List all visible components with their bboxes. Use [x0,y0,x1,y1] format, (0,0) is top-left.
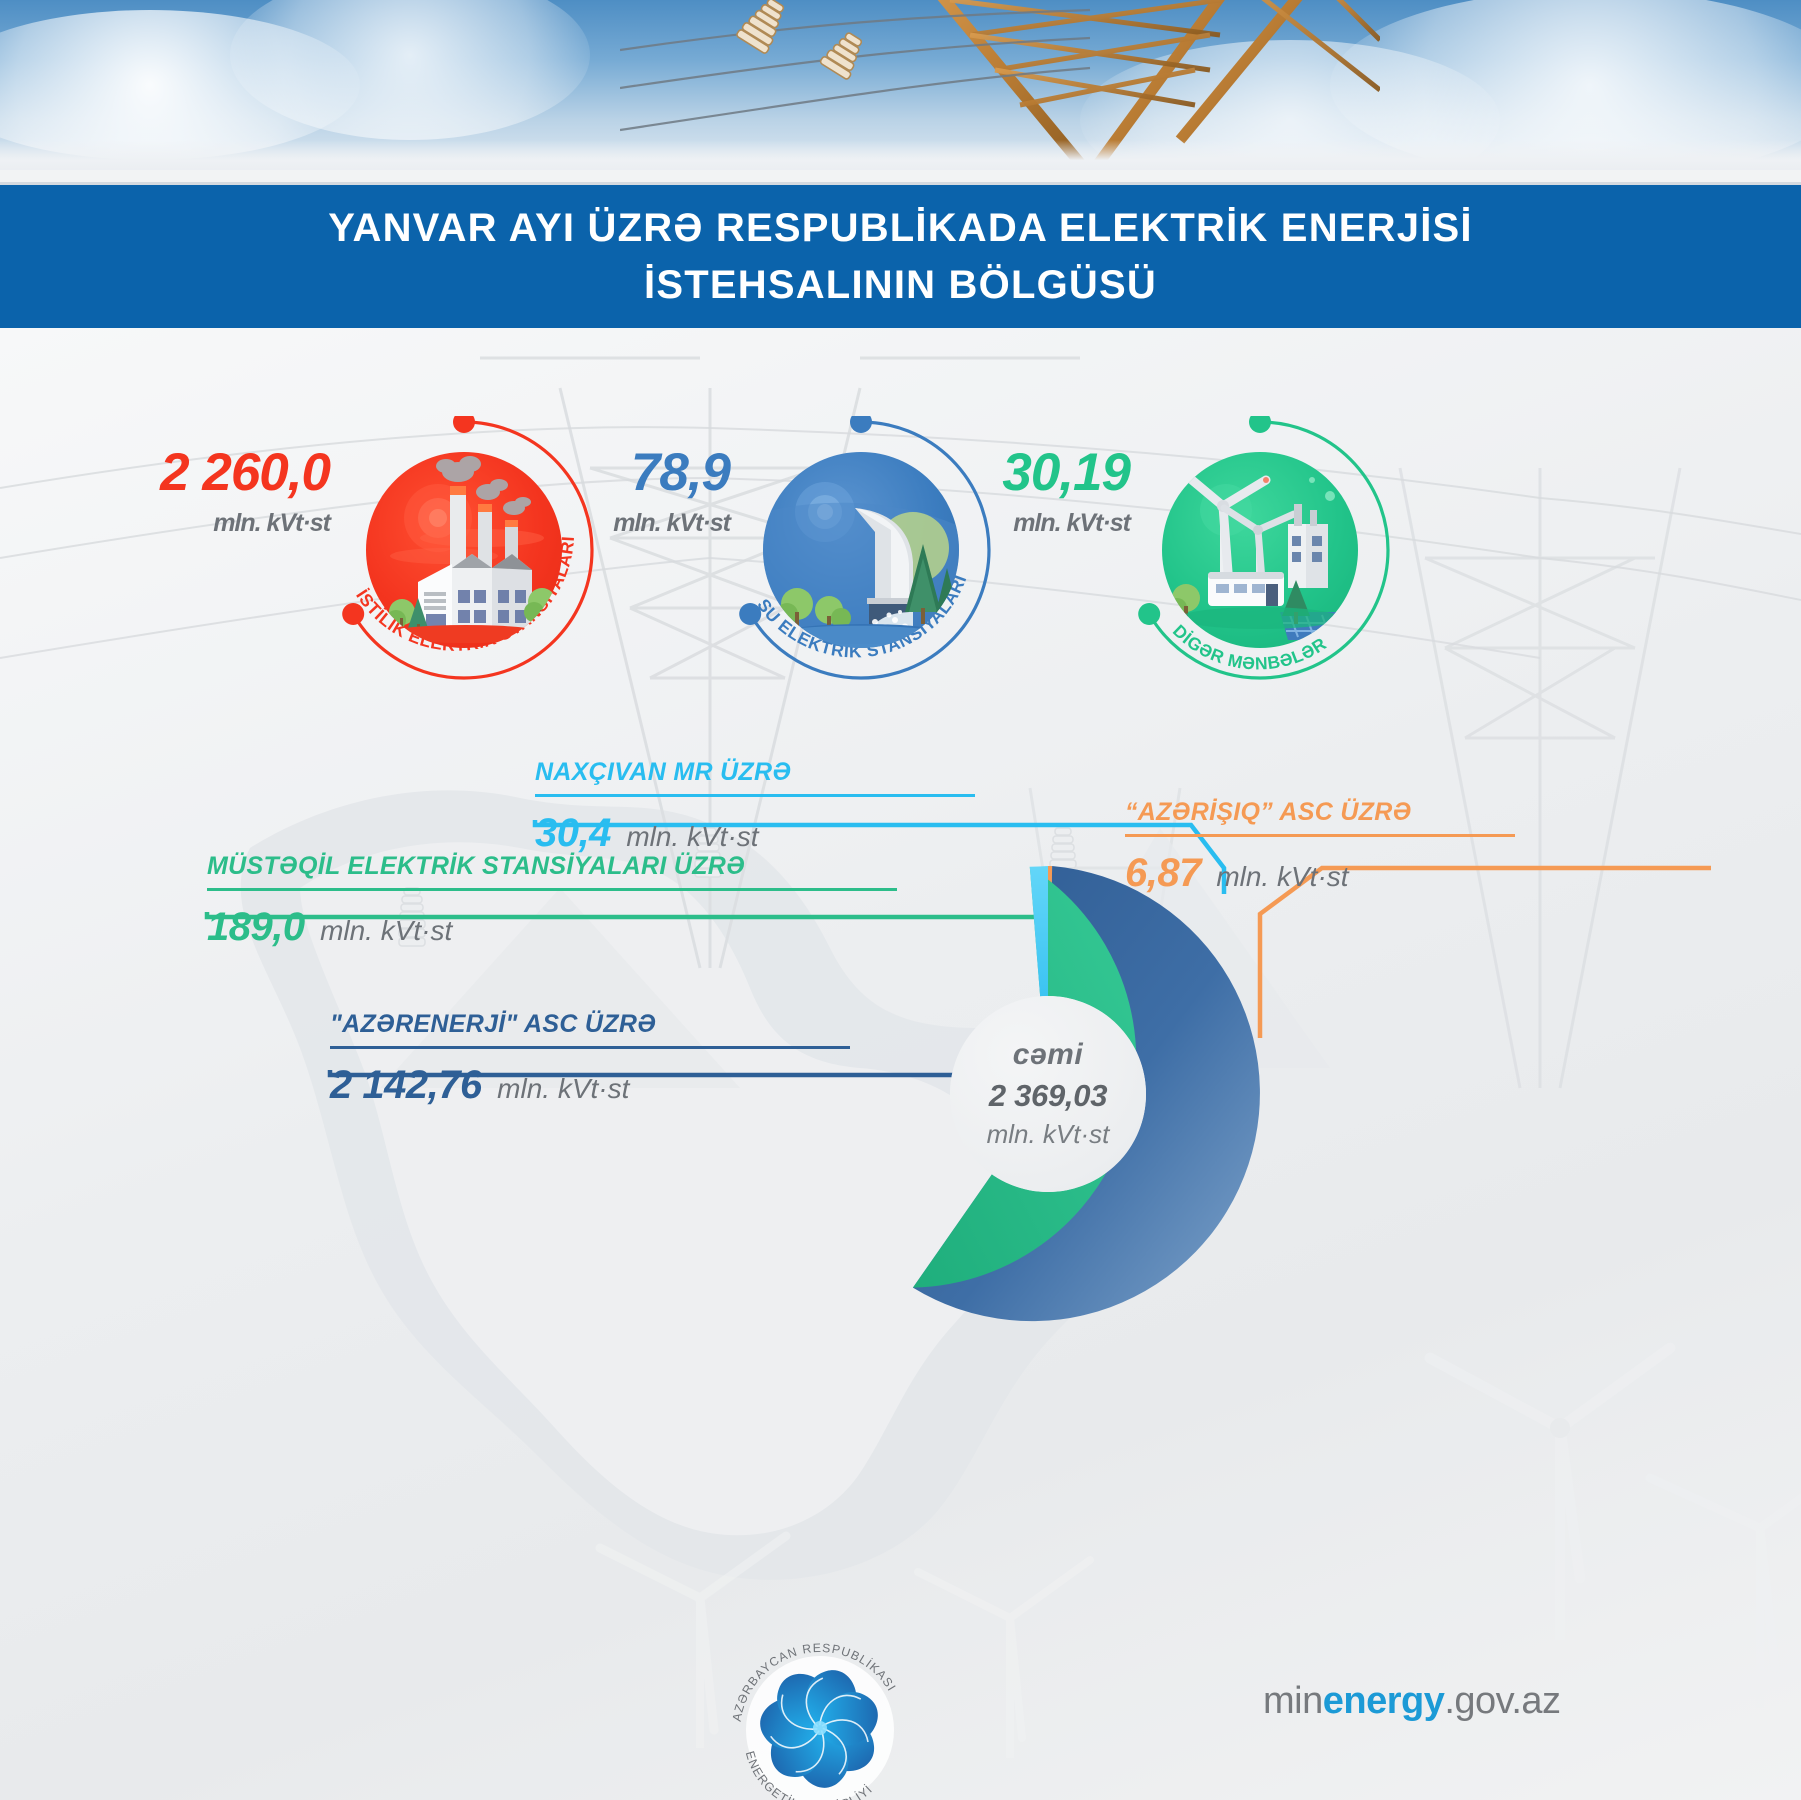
header-photo-banner [0,0,1801,170]
callout-azerenerji: "AZƏRENERJİ" ASC ÜZRƏ 2 142,76 mln. kVt·… [330,1010,850,1108]
ministry-logo-ring-text: AZƏRBAYCAN RESPUBLİKASI ENERGETİKA NAZİR… [700,1638,940,1800]
website-url-prefix: min [1263,1680,1323,1722]
donut-center-label: cəmi 2 369,03 mln. kVt·st [950,996,1146,1192]
website-url-suffix: .gov.az [1444,1680,1560,1722]
ministry-logo: AZƏRBAYCAN RESPUBLİKASI ENERGETİKA NAZİR… [700,1638,940,1800]
donut-total-value: 2 369,03 [989,1078,1107,1114]
callout-naxcivan-value-row: 30,4 mln. kVt·st [535,811,975,856]
callout-naxcivan-label: NAXÇIVAN MR ÜZRƏ [535,758,975,787]
callout-naxcivan-rule [535,794,975,797]
callout-azerenerji-rule [330,1046,850,1049]
website-url-brand: energy [1323,1680,1445,1722]
svg-text:AZƏRBAYCAN RESPUBLİKASI: AZƏRBAYCAN RESPUBLİKASI [730,1641,899,1723]
svg-text:ENERGETİKA NAZİRLİYİ: ENERGETİKA NAZİRLİYİ [743,1749,876,1800]
callout-azerenerji-label: "AZƏRENERJİ" ASC ÜZRƏ [330,1010,850,1039]
page-title: YANVAR AYI ÜZRƏ RESPUBLİKADA ELEKTRİK EN… [168,200,1632,314]
main-content: 2 260,0 mln. kVt·st İSTİLİK ELEKTRİK STA… [0,328,1801,1800]
callout-naxcivan-unit: mln. kVt·st [626,821,758,852]
callout-azerenerji-unit: mln. kVt·st [497,1073,629,1104]
callout-mustaqil-label: MÜSTƏQİL ELEKTRİK STANSİYALARI ÜZRƏ [207,852,897,881]
callout-mustaqil-value-row: 189,0 mln. kVt·st [207,905,897,950]
website-url[interactable]: minenergy.gov.az [1263,1680,1561,1723]
callout-mustaqil: MÜSTƏQİL ELEKTRİK STANSİYALARI ÜZRƏ 189,… [207,852,897,950]
donut-chart: cəmi 2 369,03 mln. kVt·st [812,858,1284,1330]
title-bar: YANVAR AYI ÜZRƏ RESPUBLİKADA ELEKTRİK EN… [0,185,1801,328]
infographic-page: YANVAR AYI ÜZRƏ RESPUBLİKADA ELEKTRİK EN… [0,0,1801,1800]
callout-azerisiq-label: “AZƏRİŞIQ” ASC ÜZRƏ [1125,798,1515,827]
callout-azerisiq-rule [1125,834,1515,837]
callout-mustaqil-rule [207,888,897,891]
callout-azerenerji-value: 2 142,76 [330,1063,482,1107]
callout-naxcivan: NAXÇIVAN MR ÜZRƏ 30,4 mln. kVt·st [535,758,975,856]
callout-mustaqil-unit: mln. kVt·st [320,915,452,946]
callout-mustaqil-value: 189,0 [207,905,305,949]
callout-azerenerji-value-row: 2 142,76 mln. kVt·st [330,1063,850,1108]
donut-total-label: cəmi [1013,1038,1083,1072]
callout-naxcivan-value: 30,4 [535,811,611,855]
donut-total-unit: mln. kVt·st [987,1119,1110,1150]
banner-fade [0,140,1801,170]
